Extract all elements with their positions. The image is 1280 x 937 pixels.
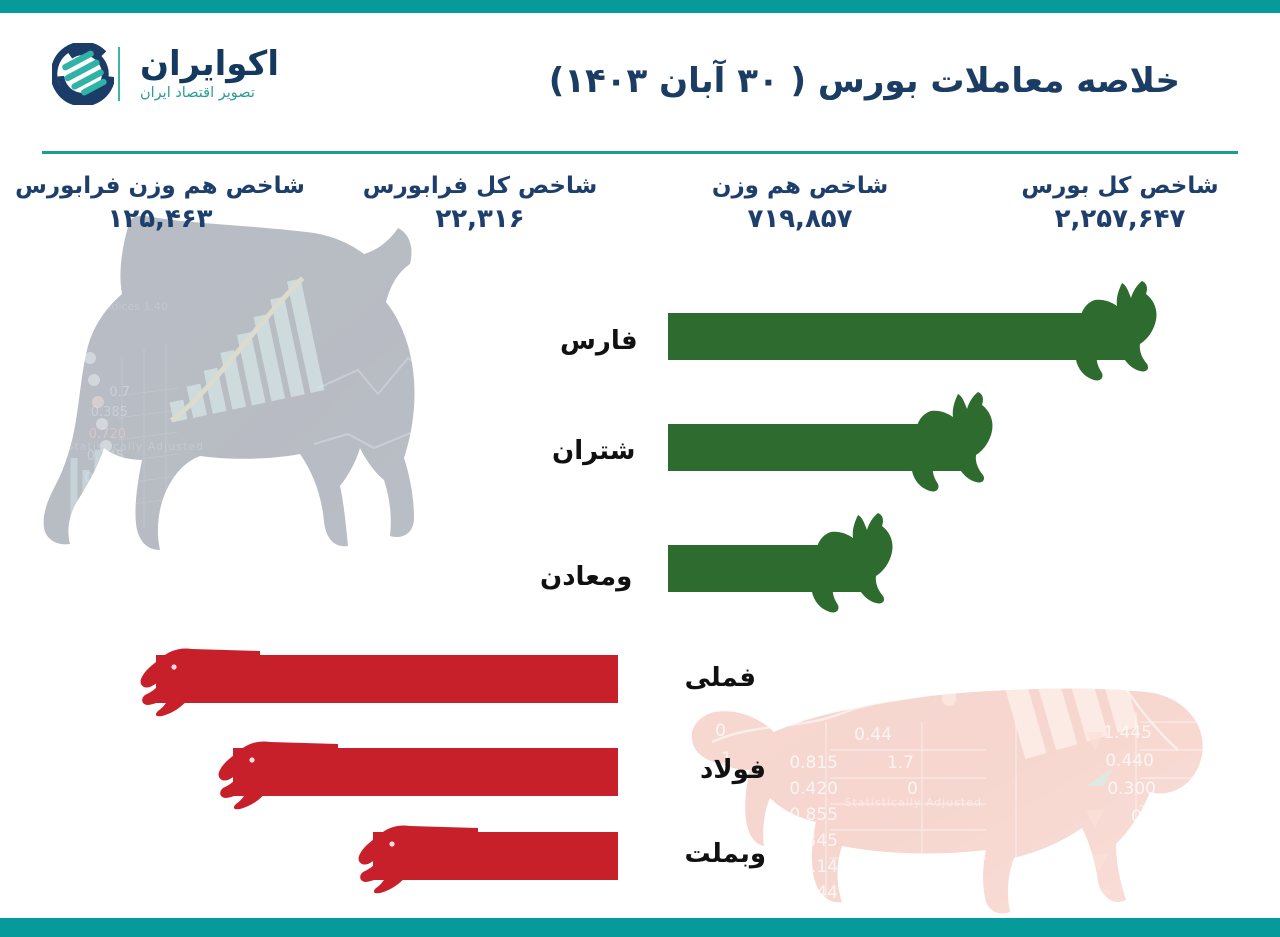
bear-head-icon — [218, 736, 338, 810]
stat-label: شاخص کل فرابورس — [320, 172, 640, 201]
bar-positive[interactable] — [668, 313, 1130, 360]
eco-iran-swoosh-logo-icon — [52, 43, 114, 105]
page-title: خلاصه معاملات بورس ( ۳۰ آبان ۱۴۰۳) — [458, 61, 1180, 101]
stat-farabourse-total-index: شاخص کل فرابورس ۲۲,۳۱۶ — [320, 172, 640, 256]
logo-divider — [118, 47, 120, 101]
bull-head-icon — [900, 392, 996, 494]
stat-total-index: شاخص کل بورس ۲,۲۵۷,۶۴۷ — [960, 172, 1280, 256]
stat-value: ۷۱۹,۸۵۷ — [640, 203, 960, 236]
stat-label: شاخص کل بورس — [960, 172, 1280, 201]
stat-value: ۱۲۵,۴۶۳ — [0, 203, 320, 236]
bull-head-icon — [800, 513, 896, 615]
bar-label: وبملت — [636, 841, 766, 867]
bar-label: ومعادن — [540, 564, 654, 590]
bar-label: شتران — [552, 438, 654, 464]
stat-value: ۲,۲۵۷,۶۴۷ — [960, 203, 1280, 236]
bear-head-icon — [358, 820, 478, 894]
stat-value: ۲۲,۳۱۶ — [320, 203, 640, 236]
stat-label: شاخص هم وزن فرابورس — [0, 172, 320, 201]
page-header: اکوایران تصویر اقتصاد ایران خلاصه معاملا… — [0, 13, 1280, 152]
header-divider — [42, 151, 1238, 154]
index-stats-row: شاخص کل بورس ۲,۲۵۷,۶۴۷ شاخص هم وزن ۷۱۹,۸… — [0, 172, 1280, 256]
stat-label: شاخص هم وزن — [640, 172, 960, 201]
brand-text: اکوایران تصویر اقتصاد ایران — [130, 47, 279, 101]
bar-label: فملی — [636, 665, 756, 691]
bar-chart: فارس شتران ومعادن فملی فولاد — [0, 256, 1280, 918]
stat-farabourse-equal-weight-index: شاخص هم وزن فرابورس ۱۲۵,۴۶۳ — [0, 172, 320, 256]
bar-label: فارس — [560, 328, 654, 354]
bull-head-icon — [1064, 281, 1160, 383]
brand-tagline: تصویر اقتصاد ایران — [140, 85, 255, 101]
brand-logo: اکوایران تصویر اقتصاد ایران — [52, 43, 279, 105]
bottom-accent-bar — [0, 918, 1280, 937]
brand-name: اکوایران — [140, 47, 279, 83]
bar-label: فولاد — [636, 757, 766, 783]
top-accent-bar — [0, 0, 1280, 13]
bear-head-icon — [140, 643, 260, 717]
stat-equal-weight-index: شاخص هم وزن ۷۱۹,۸۵۷ — [640, 172, 960, 256]
